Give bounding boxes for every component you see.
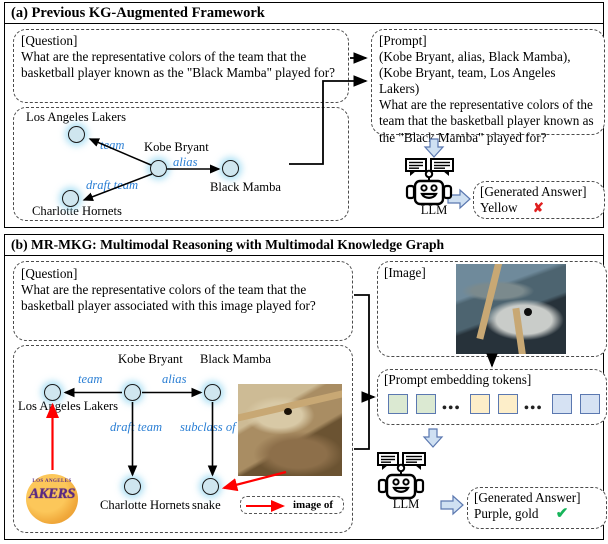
- kg-node-label-kobe-a: Kobe Bryant: [144, 140, 209, 155]
- kg-node-snake-b: [202, 478, 219, 495]
- kg-node-label-hornets-a: Charlotte Hornets: [32, 204, 122, 219]
- image-tag-b: [Image]: [384, 265, 426, 281]
- kg-edge-label-draftteam-b: draft team: [110, 420, 162, 435]
- legend-image-of: image of: [240, 496, 344, 514]
- kg-node-mamba-a: [222, 160, 239, 177]
- token-green-2: [416, 394, 436, 414]
- question-box-b: [Question] What are the representative c…: [13, 261, 353, 341]
- kg-node-label-hornets-b: Charlotte Hornets: [100, 498, 190, 513]
- llm-label-a: LLM: [403, 203, 465, 218]
- kg-node-hornets-b: [124, 478, 141, 495]
- kg-edge-label-team-b: team: [78, 372, 102, 387]
- kg-node-kobe-b: [124, 384, 141, 401]
- kg-box-a: Los Angeles Lakers Kobe Bryant Black Mam…: [13, 107, 349, 221]
- incorrect-mark-icon: ✘: [533, 200, 544, 215]
- lakers-subtext: LOS ANGELES: [24, 479, 80, 484]
- kg-edge-label-alias-a: alias: [173, 155, 198, 170]
- prompt-triples-a: (Kobe Bryant, alias, Black Mamba), (Kobe…: [379, 49, 598, 97]
- kg-node-label-lakers-a: Los Angeles Lakers: [26, 110, 126, 125]
- kg-edge-label-team-a: team: [100, 138, 124, 153]
- kg-node-mamba-b: [204, 384, 221, 401]
- mmkg-snake-image: [238, 384, 342, 476]
- panel-b-title: (b) MR-MKG: Multimodal Reasoning with Mu…: [5, 235, 603, 256]
- answer-text-a: Yellow: [480, 200, 518, 215]
- lakers-logo: LOS ANGELES AKERS: [24, 470, 80, 526]
- answer-text-b: Purple, gold: [474, 506, 538, 521]
- kg-edge-label-draftteam-a: draft team: [86, 178, 138, 193]
- llm-label-b: LLM: [375, 497, 437, 512]
- kg-node-label-kobe-b: Kobe Bryant: [118, 352, 183, 367]
- tokens-tag-b: [Prompt embedding tokens]: [384, 372, 531, 388]
- question-text-b: What are the representative colors of th…: [21, 282, 316, 313]
- panel-mrmkg: (b) MR-MKG: Multimodal Reasoning with Mu…: [4, 234, 604, 540]
- token-blue-2: [580, 394, 600, 414]
- kg-node-kobe-a: [150, 160, 167, 177]
- correct-mark-icon: ✔: [556, 506, 569, 522]
- token-blue-1: [552, 394, 572, 414]
- kg-edge-label-alias-b: alias: [162, 372, 187, 387]
- llm-robot-icon-b: LLM: [375, 451, 437, 513]
- kg-node-hornets-a: [62, 190, 79, 207]
- kg-node-label-mamba-b: Black Mamba: [200, 352, 271, 367]
- token-ellipsis-2: •••: [524, 402, 543, 416]
- answer-box-b: [Generated Answer] Purple, gold ✔: [467, 487, 607, 529]
- token-green-1: [388, 394, 408, 414]
- prompt-text-a: What are the representative colors of th…: [379, 97, 594, 144]
- kg-node-lakers-a: [68, 126, 85, 143]
- question-tag-a: [Question]: [21, 33, 342, 49]
- answer-tag-a: [Generated Answer]: [480, 184, 599, 200]
- question-text-a: What are the representative colors of th…: [21, 49, 335, 80]
- figure-root: (a) Previous KG-Augmented Framework [Que…: [0, 0, 608, 544]
- token-yellow-2: [498, 394, 518, 414]
- input-snake-photo: [456, 264, 566, 354]
- answer-box-a: [Generated Answer] Yellow ✘: [473, 181, 605, 219]
- prompt-box-a: [Prompt] (Kobe Bryant, alias, Black Mamb…: [371, 29, 605, 135]
- legend-label: image of: [293, 499, 333, 511]
- panel-previous-framework: (a) Previous KG-Augmented Framework [Que…: [4, 2, 604, 228]
- token-yellow-1: [470, 394, 490, 414]
- tokens-box-b: [Prompt embedding tokens] ••• •••: [377, 369, 607, 425]
- kg-node-lakers-b: [44, 384, 61, 401]
- image-box-b: [Image]: [377, 261, 607, 357]
- kg-edge-label-subclassof-b: subclass of: [180, 420, 236, 435]
- prompt-tag-a: [Prompt]: [379, 33, 598, 49]
- mmkg-box-b: Kobe Bryant Black Mamba Los Angeles Lake…: [13, 345, 353, 533]
- question-box-a: [Question] What are the representative c…: [13, 29, 349, 103]
- llm-robot-icon-a: LLM: [403, 157, 465, 219]
- lakers-wordmark: AKERS: [24, 486, 80, 503]
- question-tag-b: [Question]: [21, 266, 346, 282]
- kg-node-label-snake-b: snake: [192, 498, 221, 513]
- answer-tag-b: [Generated Answer]: [474, 490, 601, 506]
- kg-node-label-mamba-a: Black Mamba: [210, 180, 281, 195]
- token-ellipsis-1: •••: [442, 402, 461, 416]
- kg-node-label-lakers-b: Los Angeles Lakers: [18, 399, 118, 414]
- panel-a-title: (a) Previous KG-Augmented Framework: [5, 3, 603, 24]
